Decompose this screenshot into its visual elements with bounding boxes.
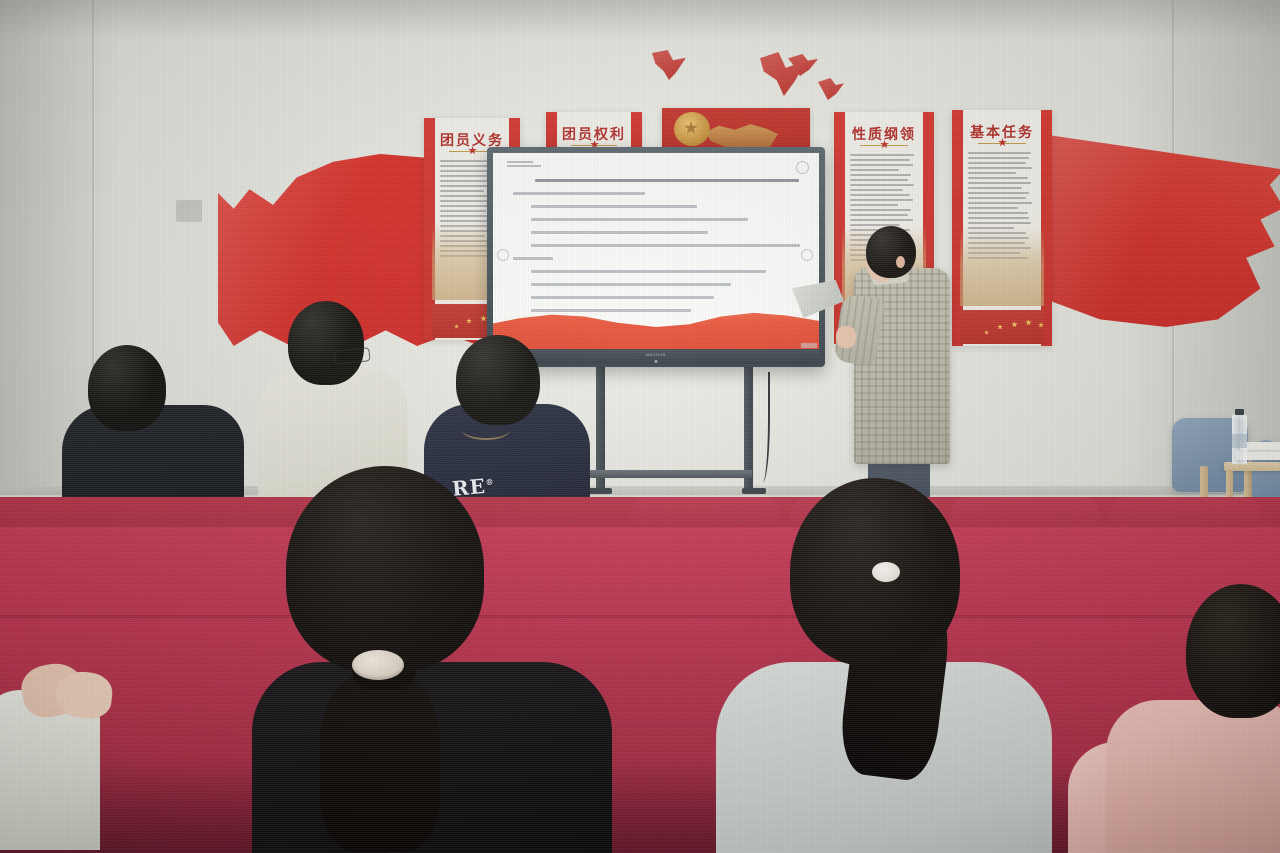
water-bottle[interactable] <box>1232 414 1247 464</box>
display-side-led <box>801 343 817 348</box>
student-back-1-head <box>88 345 166 431</box>
student-back-2-head <box>288 301 364 385</box>
wall-top-shading <box>0 0 1280 40</box>
classroom-presentation-photo: 团员义务 团员权利 <box>0 0 1280 853</box>
seat-cushion[interactable] <box>1110 497 1260 527</box>
emblem-ribbon <box>706 122 778 148</box>
hair-sheen <box>866 226 916 278</box>
display-screen[interactable] <box>493 153 819 349</box>
star-icon <box>684 121 698 135</box>
poster-title: 基本任务 <box>952 122 1052 142</box>
hair-scrunchie <box>352 650 404 680</box>
hair-sheen <box>88 345 166 431</box>
poster-parchment-art <box>960 228 1044 306</box>
poster-footer-band <box>960 310 1044 344</box>
display-brand-label: MAXHUB <box>646 352 666 357</box>
bottle-label <box>1232 434 1247 448</box>
wall-patch <box>176 200 202 222</box>
seat-cushion[interactable] <box>630 497 780 527</box>
slide-side-icon-left <box>497 249 509 261</box>
power-indicator-icon[interactable] <box>655 360 658 363</box>
display-bezel: MAXHUB <box>493 350 819 364</box>
slide-side-icon-right <box>801 249 813 261</box>
poster-title: 性质纲领 <box>834 124 934 144</box>
foreground-right-head <box>1186 584 1280 718</box>
presenter-ear <box>896 256 905 268</box>
ponytail <box>320 672 440 852</box>
necklace-icon <box>462 420 510 440</box>
youth-league-emblem-icon <box>674 112 710 146</box>
seat-cushion[interactable] <box>950 497 1100 527</box>
wall-poster-basic-tasks: 基本任务 <box>952 110 1052 346</box>
slide-body-text <box>513 179 799 322</box>
presenter-hand <box>836 326 856 348</box>
hair-sheen <box>456 335 540 425</box>
foreground-center-left-head <box>286 466 484 672</box>
slide-corner-icon <box>796 161 809 174</box>
bottle-cap <box>1235 409 1244 415</box>
display-stand-foot <box>588 488 612 494</box>
slide-header-mark <box>507 161 541 169</box>
red-banner <box>662 108 810 152</box>
shirt-text-registered-mark: ® <box>485 477 495 488</box>
poster-title: 团员权利 <box>546 124 642 144</box>
student-back-3-head <box>456 335 540 425</box>
power-cable <box>752 372 770 482</box>
bench-seam <box>0 615 1280 618</box>
display-stand-shelf <box>590 470 752 478</box>
hair-tie <box>872 562 900 582</box>
interactive-flat-panel-display[interactable]: MAXHUB <box>487 147 825 367</box>
presenter-hair <box>866 226 916 278</box>
foreground-right-top <box>1106 700 1280 853</box>
hair-sheen <box>288 301 364 385</box>
display-stand-foot <box>742 488 766 494</box>
